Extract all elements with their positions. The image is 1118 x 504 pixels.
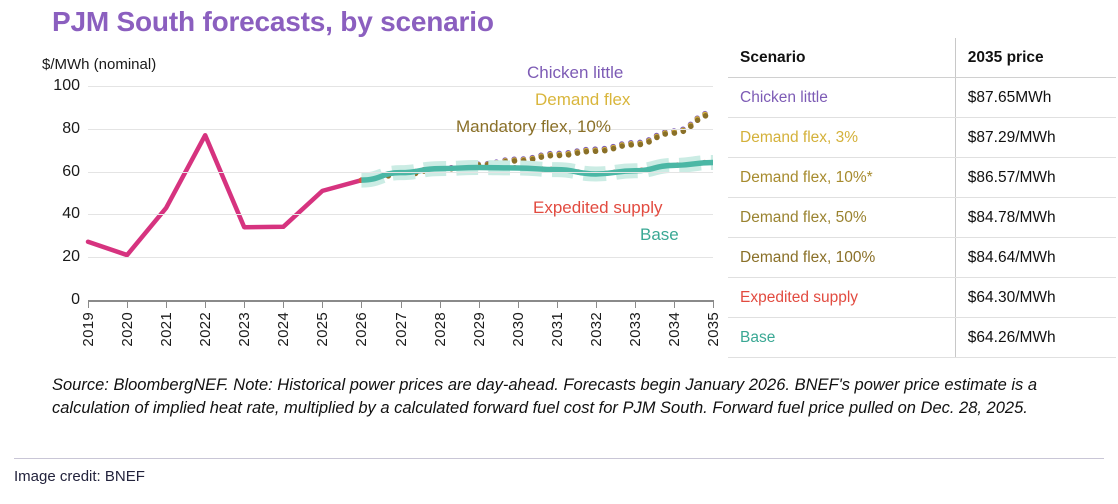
x-tick-label: 2022 bbox=[197, 312, 214, 347]
annotation-base: Base bbox=[640, 225, 679, 245]
annotation-mandatory-flex: Mandatory flex, 10% bbox=[456, 117, 611, 137]
table-header-row: Scenario 2035 price bbox=[728, 38, 1116, 78]
x-tick-mark bbox=[518, 300, 519, 308]
x-tick-mark bbox=[205, 300, 206, 308]
x-tick-label: 2031 bbox=[549, 312, 566, 347]
source-note: Source: BloombergNEF. Note: Historical p… bbox=[52, 374, 1098, 420]
x-tick-mark bbox=[166, 300, 167, 308]
x-tick-mark bbox=[674, 300, 675, 308]
x-tick-mark bbox=[244, 300, 245, 308]
x-tick-label: 2020 bbox=[119, 312, 136, 347]
x-tick-label: 2024 bbox=[275, 312, 292, 347]
x-tick-label: 2028 bbox=[432, 312, 449, 347]
cell-scenario: Chicken little bbox=[728, 78, 955, 118]
x-tick-mark bbox=[361, 300, 362, 308]
x-tick-mark bbox=[557, 300, 558, 308]
y-tick-label: 60 bbox=[34, 163, 80, 181]
x-tick-label: 2035 bbox=[705, 312, 722, 347]
chart-container: $/MWh (nominal) 100806040200 20192020202… bbox=[0, 46, 726, 366]
column-header-scenario: Scenario bbox=[728, 38, 955, 78]
annotation-chicken-little: Chicken little bbox=[527, 63, 623, 83]
gridline bbox=[88, 86, 713, 87]
x-tick-mark bbox=[440, 300, 441, 308]
x-tick-mark bbox=[635, 300, 636, 308]
x-tick-label: 2021 bbox=[158, 312, 175, 347]
x-tick-label: 2025 bbox=[314, 312, 331, 347]
plot-area bbox=[88, 86, 713, 300]
y-tick-label: 100 bbox=[34, 77, 80, 95]
x-tick-mark bbox=[713, 300, 714, 308]
gridline bbox=[88, 257, 713, 258]
series-historical bbox=[88, 135, 361, 255]
annotation-demand-flex: Demand flex bbox=[535, 90, 630, 110]
y-tick-label: 0 bbox=[34, 291, 80, 309]
table-row: Demand flex, 50%$84.78/MWh bbox=[728, 198, 1116, 238]
table-row: Chicken little$87.65MWh bbox=[728, 78, 1116, 118]
x-axis-ticks: 2019202020212022202320242025202620272028… bbox=[88, 300, 713, 360]
y-axis-unit-label: $/MWh (nominal) bbox=[42, 56, 156, 73]
y-axis-ticks: 100806040200 bbox=[0, 86, 80, 300]
x-tick-mark bbox=[479, 300, 480, 308]
table-row: Demand flex, 10%*$86.57/MWh bbox=[728, 158, 1116, 198]
column-header-price: 2035 price bbox=[955, 38, 1116, 78]
cell-scenario: Expedited supply bbox=[728, 278, 955, 318]
scenario-price-table: Scenario 2035 price Chicken little$87.65… bbox=[728, 38, 1116, 358]
x-tick-mark bbox=[127, 300, 128, 308]
cell-price: $87.29/MWh bbox=[955, 118, 1116, 158]
chart-series-svg bbox=[88, 86, 713, 300]
footer-divider bbox=[14, 458, 1104, 459]
cell-scenario: Demand flex, 50% bbox=[728, 198, 955, 238]
cell-price: $84.64/MWh bbox=[955, 238, 1116, 278]
y-tick-label: 80 bbox=[34, 120, 80, 138]
gridline bbox=[88, 129, 713, 130]
cell-scenario: Demand flex, 3% bbox=[728, 118, 955, 158]
cell-price: $64.26/MWh bbox=[955, 318, 1116, 358]
gridline bbox=[88, 172, 713, 173]
cell-scenario: Base bbox=[728, 318, 955, 358]
cell-scenario: Demand flex, 100% bbox=[728, 238, 955, 278]
cell-price: $64.30/MWh bbox=[955, 278, 1116, 318]
y-tick-label: 20 bbox=[34, 248, 80, 266]
x-tick-label: 2026 bbox=[353, 312, 370, 347]
page-title: PJM South forecasts, by scenario bbox=[52, 6, 494, 38]
x-tick-mark bbox=[596, 300, 597, 308]
x-tick-mark bbox=[88, 300, 89, 308]
table-row: Expedited supply$64.30/MWh bbox=[728, 278, 1116, 318]
cell-price: $86.57/MWh bbox=[955, 158, 1116, 198]
cell-price: $84.78/MWh bbox=[955, 198, 1116, 238]
cell-scenario: Demand flex, 10%* bbox=[728, 158, 955, 198]
x-tick-mark bbox=[283, 300, 284, 308]
x-tick-label: 2023 bbox=[236, 312, 253, 347]
x-tick-label: 2029 bbox=[471, 312, 488, 347]
x-tick-label: 2032 bbox=[588, 312, 605, 347]
x-tick-mark bbox=[401, 300, 402, 308]
x-tick-label: 2027 bbox=[393, 312, 410, 347]
image-credit: Image credit: BNEF bbox=[14, 468, 145, 485]
chart-page: PJM South forecasts, by scenario $/MWh (… bbox=[0, 0, 1118, 504]
cell-price: $87.65MWh bbox=[955, 78, 1116, 118]
x-tick-label: 2033 bbox=[627, 312, 644, 347]
annotation-expedited-supply: Expedited supply bbox=[533, 198, 662, 218]
table-row: Base$64.26/MWh bbox=[728, 318, 1116, 358]
table-row: Demand flex, 3%$87.29/MWh bbox=[728, 118, 1116, 158]
table-body: Chicken little$87.65MWhDemand flex, 3%$8… bbox=[728, 78, 1116, 358]
x-tick-mark bbox=[322, 300, 323, 308]
x-tick-label: 2034 bbox=[666, 312, 683, 347]
table-row: Demand flex, 100%$84.64/MWh bbox=[728, 238, 1116, 278]
x-tick-label: 2030 bbox=[510, 312, 527, 347]
y-tick-label: 40 bbox=[34, 205, 80, 223]
x-tick-label: 2019 bbox=[80, 312, 97, 347]
